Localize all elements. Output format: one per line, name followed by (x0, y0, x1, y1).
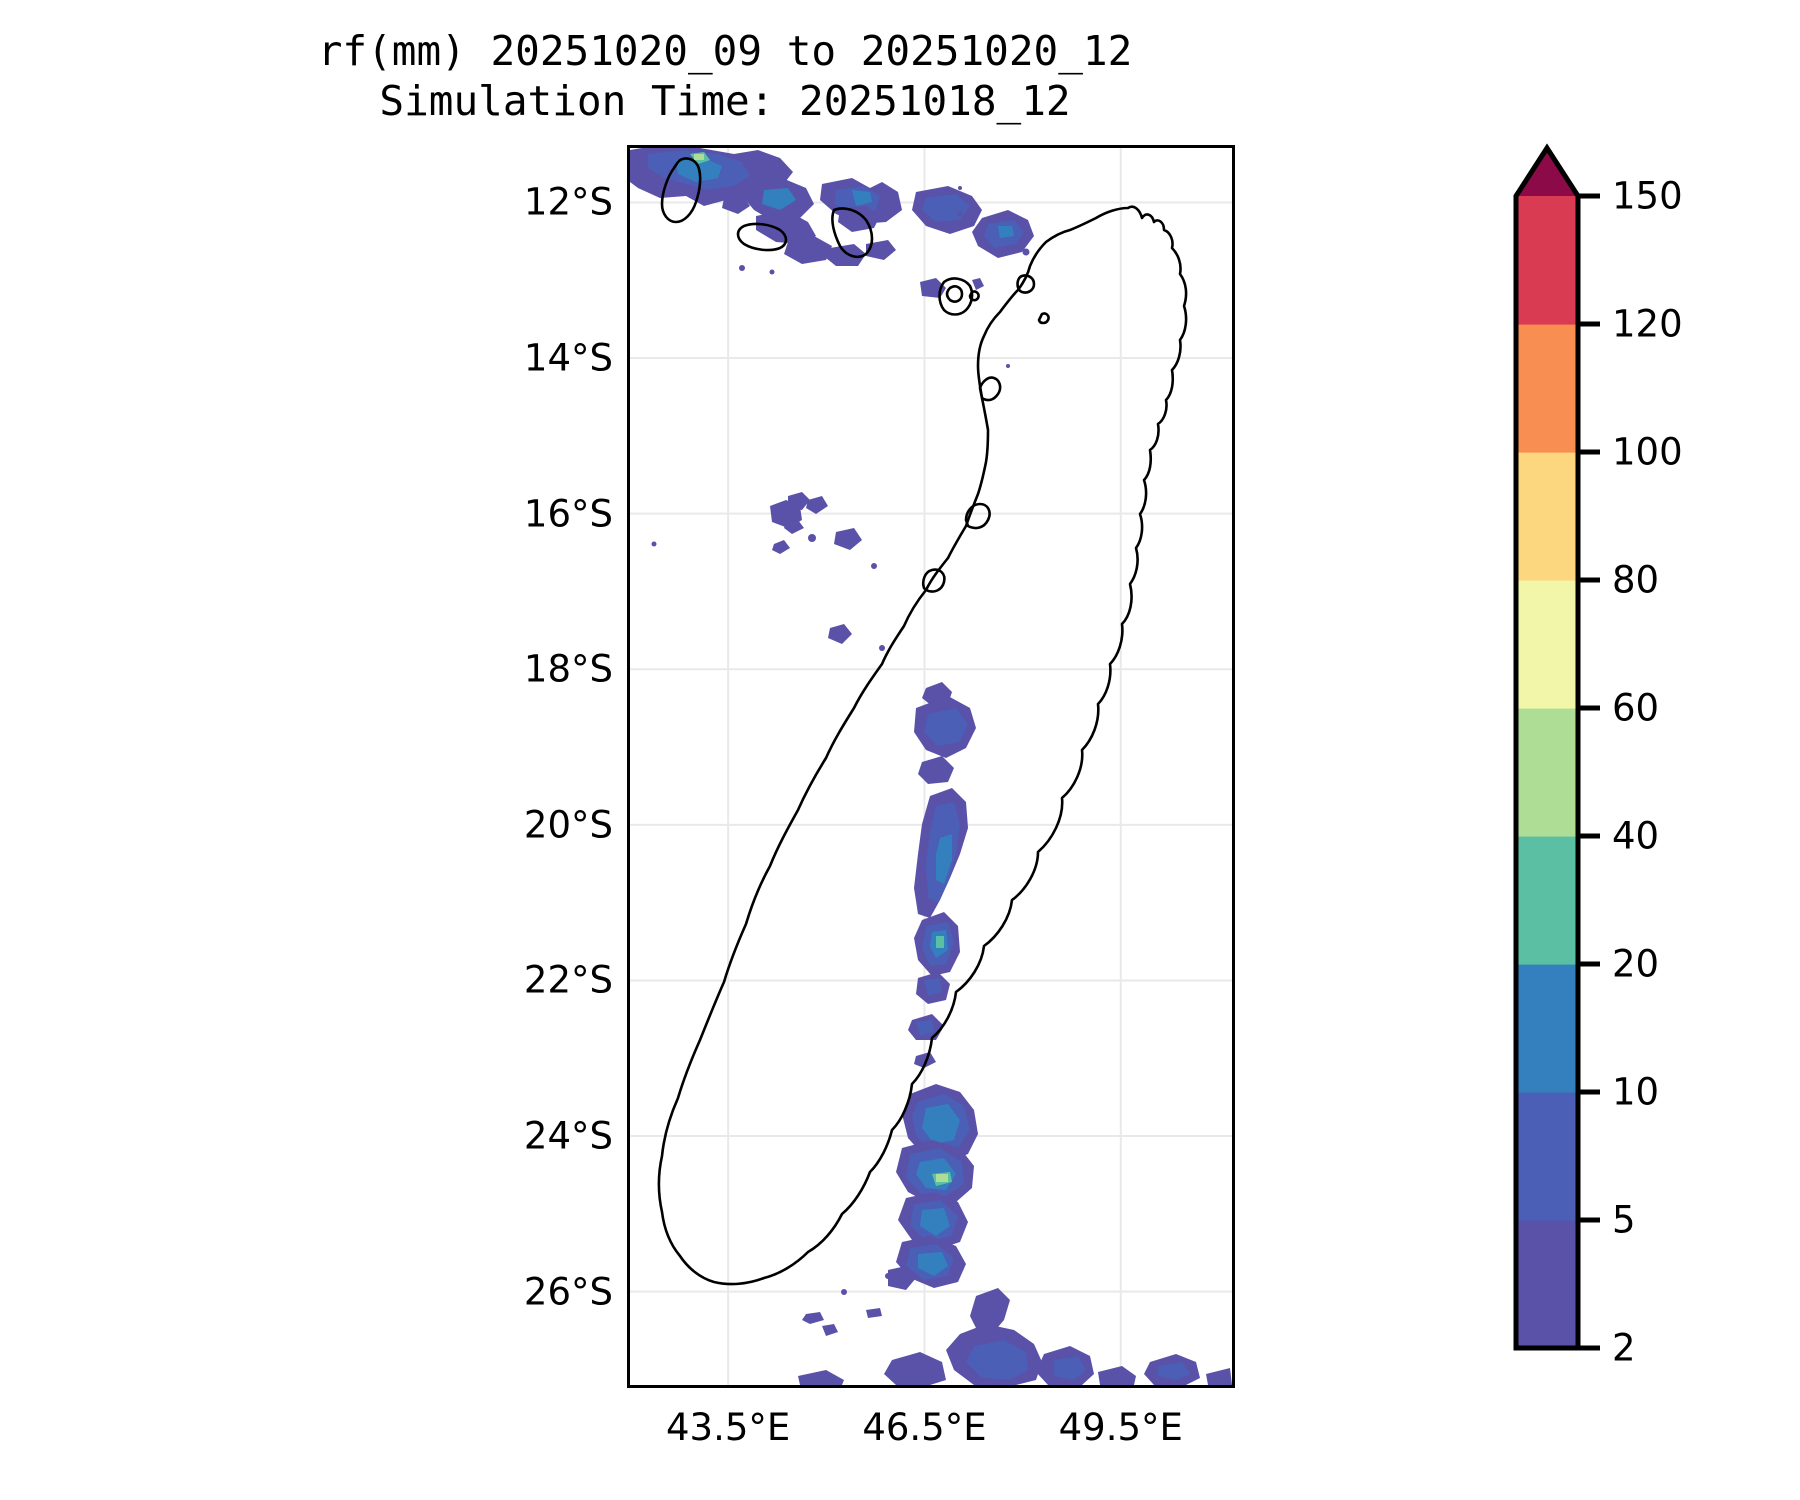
longitude-tick-label-46-5e: 46.5°E (862, 1406, 986, 1449)
colorbar-tick-label-150: 150 (1612, 175, 1683, 218)
colorbar-tick-label-100: 100 (1612, 431, 1683, 474)
figure-title: rf(mm) 20251020_09 to 20251020_12 Simula… (0, 26, 1450, 126)
colorbar-band (1516, 196, 1578, 325)
colorbar-tick-label-10: 10 (1612, 1071, 1659, 1114)
map-svg (630, 148, 1232, 1385)
colorbar-tick-label-120: 120 (1612, 303, 1683, 346)
colorbar-band (1516, 836, 1578, 965)
latitude-tick-label-24s: 24°S (524, 1115, 613, 1158)
latitude-tick-label-14s: 14°S (524, 337, 613, 380)
title-line-1: rf(mm) 20251020_09 to 20251020_12 (0, 26, 1450, 76)
map-plot-area[interactable] (627, 145, 1235, 1388)
figure-canvas: rf(mm) 20251020_09 to 20251020_12 Simula… (0, 0, 1800, 1500)
colorbar-band (1516, 1092, 1578, 1221)
colorbar-tick-label-80: 80 (1612, 559, 1659, 602)
colorbar-tick-label-40: 40 (1612, 815, 1659, 858)
latitude-tick-label-12s: 12°S (524, 181, 613, 224)
colorbar-band (1516, 708, 1578, 837)
longitude-tick-label-49-5e: 49.5°E (1059, 1406, 1183, 1449)
colorbar-band (1516, 1220, 1578, 1349)
colorbar-tick-label-60: 60 (1612, 687, 1659, 730)
latitude-tick-label-20s: 20°S (524, 803, 613, 846)
colorbar-extend-arrow (1516, 148, 1578, 196)
longitude-tick-label-43-5e: 43.5°E (666, 1406, 790, 1449)
colorbar-band (1516, 452, 1578, 581)
latitude-tick-label-16s: 16°S (524, 492, 613, 535)
title-line-2: Simulation Time: 20251018_12 (0, 76, 1450, 126)
colorbar-band (1516, 580, 1578, 709)
colorbar-band (1516, 324, 1578, 453)
latitude-tick-label-26s: 26°S (524, 1270, 613, 1313)
colorbar-band (1516, 964, 1578, 1093)
colorbar-tick-label-2: 2 (1612, 1327, 1636, 1370)
latitude-tick-label-18s: 18°S (524, 648, 613, 691)
colorbar[interactable]: 150120100806040201052 (1498, 140, 1798, 1370)
colorbar-tick-label-20: 20 (1612, 943, 1659, 986)
colorbar-tick-label-5: 5 (1612, 1199, 1636, 1242)
latitude-tick-label-22s: 22°S (524, 959, 613, 1002)
